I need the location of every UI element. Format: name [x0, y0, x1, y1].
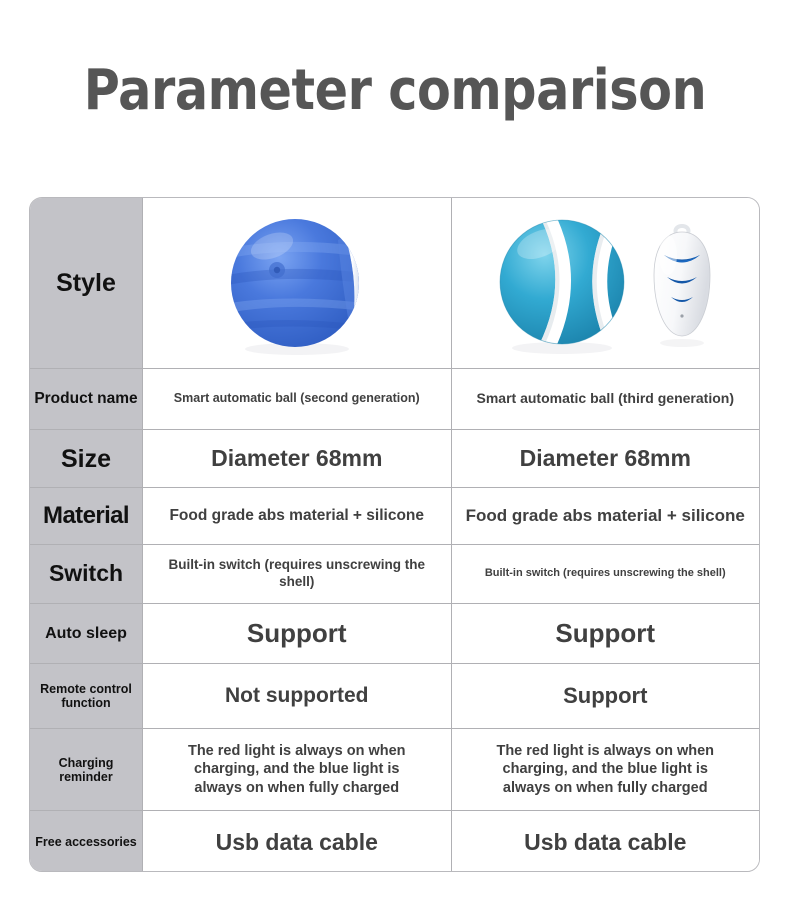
table-row: Switch Built-in switch (requires unscrew…: [30, 545, 759, 604]
table-row: Size Diameter 68mm Diameter 68mm: [30, 430, 759, 488]
row-label-material: Material: [30, 488, 143, 544]
row-label-switch: Switch: [30, 545, 143, 603]
cell-free-accessories-gen2: Usb data cable: [143, 811, 452, 872]
cell-charging-reminder-gen3-text: The red light is always on when charging…: [489, 742, 721, 796]
table-row: Auto sleep Support Support: [30, 604, 759, 664]
cell-product-name-gen3: Smart automatic ball (third generation): [452, 369, 760, 429]
cell-size-gen3: Diameter 68mm: [452, 430, 760, 487]
cell-style-gen3: [452, 198, 760, 368]
row-label-charging-reminder: Charging reminder: [30, 729, 143, 810]
table-row: Material Food grade abs material + silic…: [30, 488, 759, 545]
cell-charging-reminder-gen3: The red light is always on when charging…: [452, 729, 760, 810]
row-label-charging-reminder-line1: Charging: [59, 756, 114, 770]
cell-product-name-gen2: Smart automatic ball (second generation): [143, 369, 452, 429]
remote-control-icon: [646, 217, 718, 349]
row-label-free-accessories: Free accessories: [30, 811, 143, 872]
row-label-auto-sleep: Auto sleep: [30, 604, 143, 663]
row-label-remote-control: Remote control function: [30, 664, 143, 728]
cell-remote-control-gen3: Support: [452, 664, 760, 728]
blue-ball-icon: [222, 208, 372, 358]
table-row: Style: [30, 198, 759, 369]
cell-size-gen2: Diameter 68mm: [143, 430, 452, 487]
cyan-ball-icon: [492, 208, 632, 358]
row-label-product-name: Product name: [30, 369, 143, 429]
cell-remote-control-gen2: Not supported: [143, 664, 452, 728]
row-label-charging-reminder-line2: reminder: [59, 770, 114, 784]
page-title: Parameter comparison: [47, 58, 742, 123]
row-label-remote-control-line1: Remote control: [40, 682, 132, 696]
cell-charging-reminder-gen2: The red light is always on when charging…: [143, 729, 452, 810]
table-row: Product name Smart automatic ball (secon…: [30, 369, 759, 430]
row-label-size: Size: [30, 430, 143, 487]
cell-auto-sleep-gen3: Support: [452, 604, 760, 663]
cell-switch-gen2: Built-in switch (requires unscrewing the…: [143, 545, 452, 603]
cell-switch-gen3: Built-in switch (requires unscrewing the…: [452, 545, 760, 603]
table-row: Free accessories Usb data cable Usb data…: [30, 811, 759, 872]
parameter-comparison-table: Style: [29, 197, 760, 872]
cell-material-gen2: Food grade abs material + silicone: [143, 488, 452, 544]
cell-style-gen2: [143, 198, 452, 368]
table-row: Charging reminder The red light is alway…: [30, 729, 759, 811]
product-figure-gen3: [460, 202, 752, 364]
cell-material-gen3: Food grade abs material + silicone: [452, 488, 760, 544]
cell-charging-reminder-gen2-text: The red light is always on when charging…: [182, 742, 412, 796]
product-figure-gen2: [151, 202, 443, 364]
cell-free-accessories-gen3: Usb data cable: [452, 811, 760, 872]
row-label-style: Style: [30, 198, 143, 368]
row-label-remote-control-line2: function: [40, 696, 132, 710]
cell-auto-sleep-gen2: Support: [143, 604, 452, 663]
table-row: Remote control function Not supported Su…: [30, 664, 759, 729]
